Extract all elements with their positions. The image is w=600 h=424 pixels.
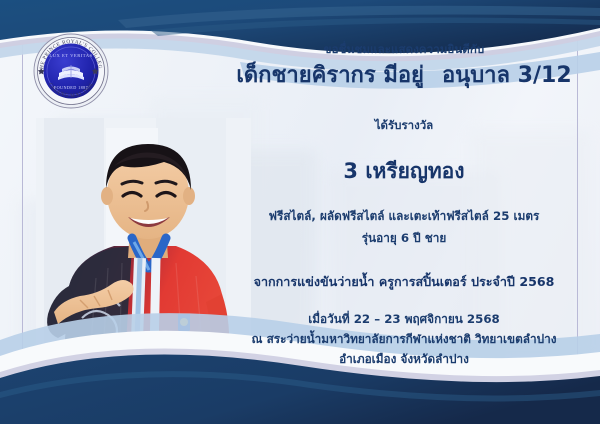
recipient-class: อนุบาล 3/12 xyxy=(442,63,572,88)
certificate-text-block: ขอชื่นชมและแสดงความยินดีกับ เด็กชายคิราก… xyxy=(230,42,578,369)
svg-text:LUX ET VERITAS: LUX ET VERITAS xyxy=(49,53,92,58)
venue-line-2: อำเภอเมือง จังหวัดลำปาง xyxy=(230,349,578,369)
age-group-text: รุ่นอายุ 6 ปี ชาย xyxy=(230,227,578,249)
recipient-name: เด็กชายคิรากร มีอยู่ xyxy=(236,63,424,88)
prize-text: 3 เหรียญทอง xyxy=(230,155,578,188)
certificate-card: THE PRINCE ROYAL'S COLLEGE CHIANG MAI 19… xyxy=(0,0,600,424)
competition-text: จากการแข่งขันว่ายน้ำ ครูการสปิ้นเตอร์ ปร… xyxy=(230,272,578,292)
congratulations-line: ขอชื่นชมและแสดงความยินดีกับ xyxy=(230,42,578,56)
date-text: เมื่อวันที่ 22 – 23 พฤศจิกายน 2568 xyxy=(230,309,578,329)
venue-line-1: ณ สระว่ายน้ำมหาวิทยาลัยการกีฬาแห่งชาติ ว… xyxy=(230,329,578,349)
student-photo xyxy=(36,118,251,408)
school-seal: THE PRINCE ROYAL'S COLLEGE CHIANG MAI 19… xyxy=(32,32,110,110)
events-text: ฟรีสไตล์, ผลัดฟรีสไตล์ และเตะเท้าฟรีสไตล… xyxy=(230,205,578,227)
recipient-line: เด็กชายคิรากร มีอยู่อนุบาล 3/12 xyxy=(230,62,578,90)
svg-text:FOUNDED 1887: FOUNDED 1887 xyxy=(54,85,88,90)
awarded-label: ได้รับรางวัล xyxy=(230,117,578,135)
